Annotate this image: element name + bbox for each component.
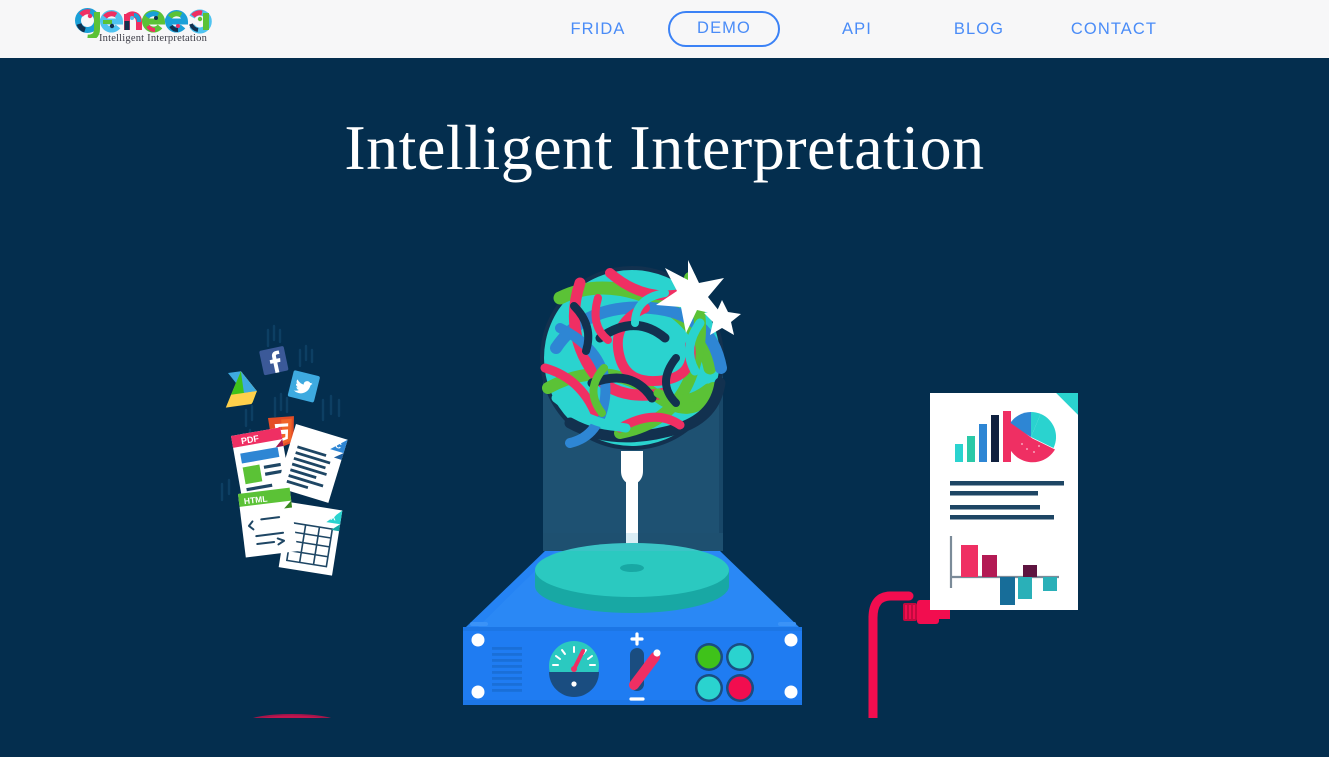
illustration-svg: PDF DOC: [0, 238, 1329, 718]
input-funnel: [245, 714, 339, 718]
site-logo[interactable]: Intelligent Interpretation: [72, 6, 234, 52]
button-teal[interactable]: [698, 677, 721, 700]
dial-gauge[interactable]: [549, 641, 599, 697]
screw-bottom-right: [785, 686, 798, 699]
main-navigation: FRIDA DEMO API BLOG CONTACT: [548, 0, 1184, 58]
page-title: Intelligent Interpretation: [0, 111, 1329, 185]
facebook-icon: [259, 346, 289, 376]
analysis-machine: [432, 238, 832, 705]
html-document: HTML: [238, 488, 297, 558]
nav-item-contact[interactable]: CONTACT: [1044, 20, 1184, 39]
nav-link-api[interactable]: API: [842, 20, 872, 39]
screw-top-left: [472, 634, 485, 647]
site-header: Intelligent Interpretation FRIDA DEMO AP…: [0, 0, 1329, 58]
input-sources-group: PDF DOC: [221, 326, 348, 718]
nav-item-blog[interactable]: BLOG: [914, 20, 1044, 39]
nav-item-demo[interactable]: DEMO: [648, 11, 800, 47]
button-green[interactable]: [698, 646, 721, 669]
nav-link-demo[interactable]: DEMO: [668, 11, 780, 47]
output-report: [930, 393, 1078, 610]
nav-item-api[interactable]: API: [800, 20, 914, 39]
logo-tagline: Intelligent Interpretation: [99, 33, 207, 44]
hero-illustration: PDF DOC: [0, 238, 1329, 718]
nav-link-frida[interactable]: FRIDA: [571, 20, 626, 39]
nav-link-contact[interactable]: CONTACT: [1071, 20, 1157, 39]
google-drive-icon: [221, 369, 258, 407]
hero-section: Intelligent Interpretation: [0, 58, 1329, 757]
screw-bottom-left: [472, 686, 485, 699]
output-cable: [803, 596, 950, 718]
button-cyan[interactable]: [729, 646, 752, 669]
screw-top-right: [785, 634, 798, 647]
nav-link-blog[interactable]: BLOG: [954, 20, 1004, 39]
twitter-icon: [287, 370, 320, 403]
nav-item-frida[interactable]: FRIDA: [548, 20, 648, 39]
button-red[interactable]: [729, 677, 752, 700]
